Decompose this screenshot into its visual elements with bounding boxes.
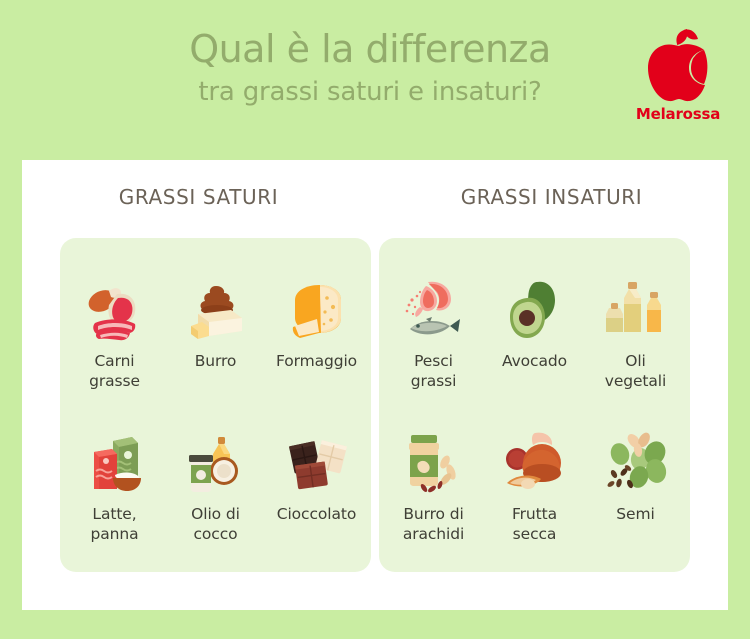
item-label: Olio di cocco: [191, 505, 240, 545]
header: Qual è la differenza tra grassi saturi e…: [0, 0, 750, 160]
panel-saturated-fats: Carni grasse Burro: [60, 238, 371, 572]
comparison-panels: Carni grasse Burro: [60, 238, 690, 572]
page-subtitle: tra grassi saturi e insaturi?: [0, 77, 740, 108]
item-label: Avocado: [502, 352, 567, 372]
item-oli-vegetali[interactable]: Oli vegetali: [586, 274, 686, 392]
item-label: Oli vegetali: [605, 352, 666, 392]
item-avocado[interactable]: Avocado: [485, 274, 585, 372]
item-label: Burro di arachidi: [403, 505, 464, 545]
item-burro-arachidi[interactable]: Burro di arachidi: [384, 427, 484, 545]
item-label: Latte, panna: [91, 505, 139, 545]
panel-unsaturated-fats: Pesci grassi Avocado: [379, 238, 690, 572]
item-carni-grasse[interactable]: Carni grasse: [65, 274, 165, 392]
fatty-fish-icon: [396, 274, 472, 346]
column-heading-unsaturated: GRASSI INSATURI: [375, 185, 728, 209]
item-pesci-grassi[interactable]: Pesci grassi: [384, 274, 484, 392]
item-label: Burro: [195, 352, 237, 372]
panel-row: Latte, panna: [64, 427, 367, 545]
item-semi[interactable]: Semi: [586, 427, 686, 525]
item-label: Frutta secca: [512, 505, 557, 545]
item-latte-panna[interactable]: Latte, panna: [65, 427, 165, 545]
column-heading-saturated: GRASSI SATURI: [22, 185, 375, 209]
item-label: Semi: [616, 505, 654, 525]
chocolate-icon: [279, 427, 355, 499]
avocado-icon: [497, 274, 573, 346]
red-apple-icon: [630, 28, 726, 106]
vegetable-oil-icon: [598, 274, 674, 346]
item-label: Cioccolato: [277, 505, 357, 525]
peanut-butter-icon: [396, 427, 472, 499]
panel-row: Burro di arachidi Frutta secca: [383, 427, 686, 545]
item-frutta-secca[interactable]: Frutta secca: [485, 427, 585, 545]
coconut-oil-icon: [178, 427, 254, 499]
butter-icon: [178, 274, 254, 346]
column-headers: GRASSI SATURI GRASSI INSATURI: [22, 185, 728, 209]
item-cioccolato[interactable]: Cioccolato: [267, 427, 367, 525]
item-burro[interactable]: Burro: [166, 274, 266, 372]
panel-row: Pesci grassi Avocado: [383, 274, 686, 392]
brand-name: Melarossa: [630, 105, 726, 123]
page-title: Qual è la differenza: [0, 28, 740, 71]
milk-cream-icon: [77, 427, 153, 499]
nuts-icon: [497, 427, 573, 499]
item-label: Pesci grassi: [411, 352, 457, 392]
fatty-meat-icon: [77, 274, 153, 346]
seeds-icon: [598, 427, 674, 499]
brand-logo[interactable]: Melarossa: [630, 28, 726, 132]
item-label: Carni grasse: [89, 352, 140, 392]
item-formaggio[interactable]: Formaggio: [267, 274, 367, 372]
panel-row: Carni grasse Burro: [64, 274, 367, 392]
cheese-wheel-icon: [279, 274, 355, 346]
item-label: Formaggio: [276, 352, 357, 372]
content-card: GRASSI SATURI GRASSI INSATURI: [22, 160, 728, 610]
item-olio-cocco[interactable]: Olio di cocco: [166, 427, 266, 545]
